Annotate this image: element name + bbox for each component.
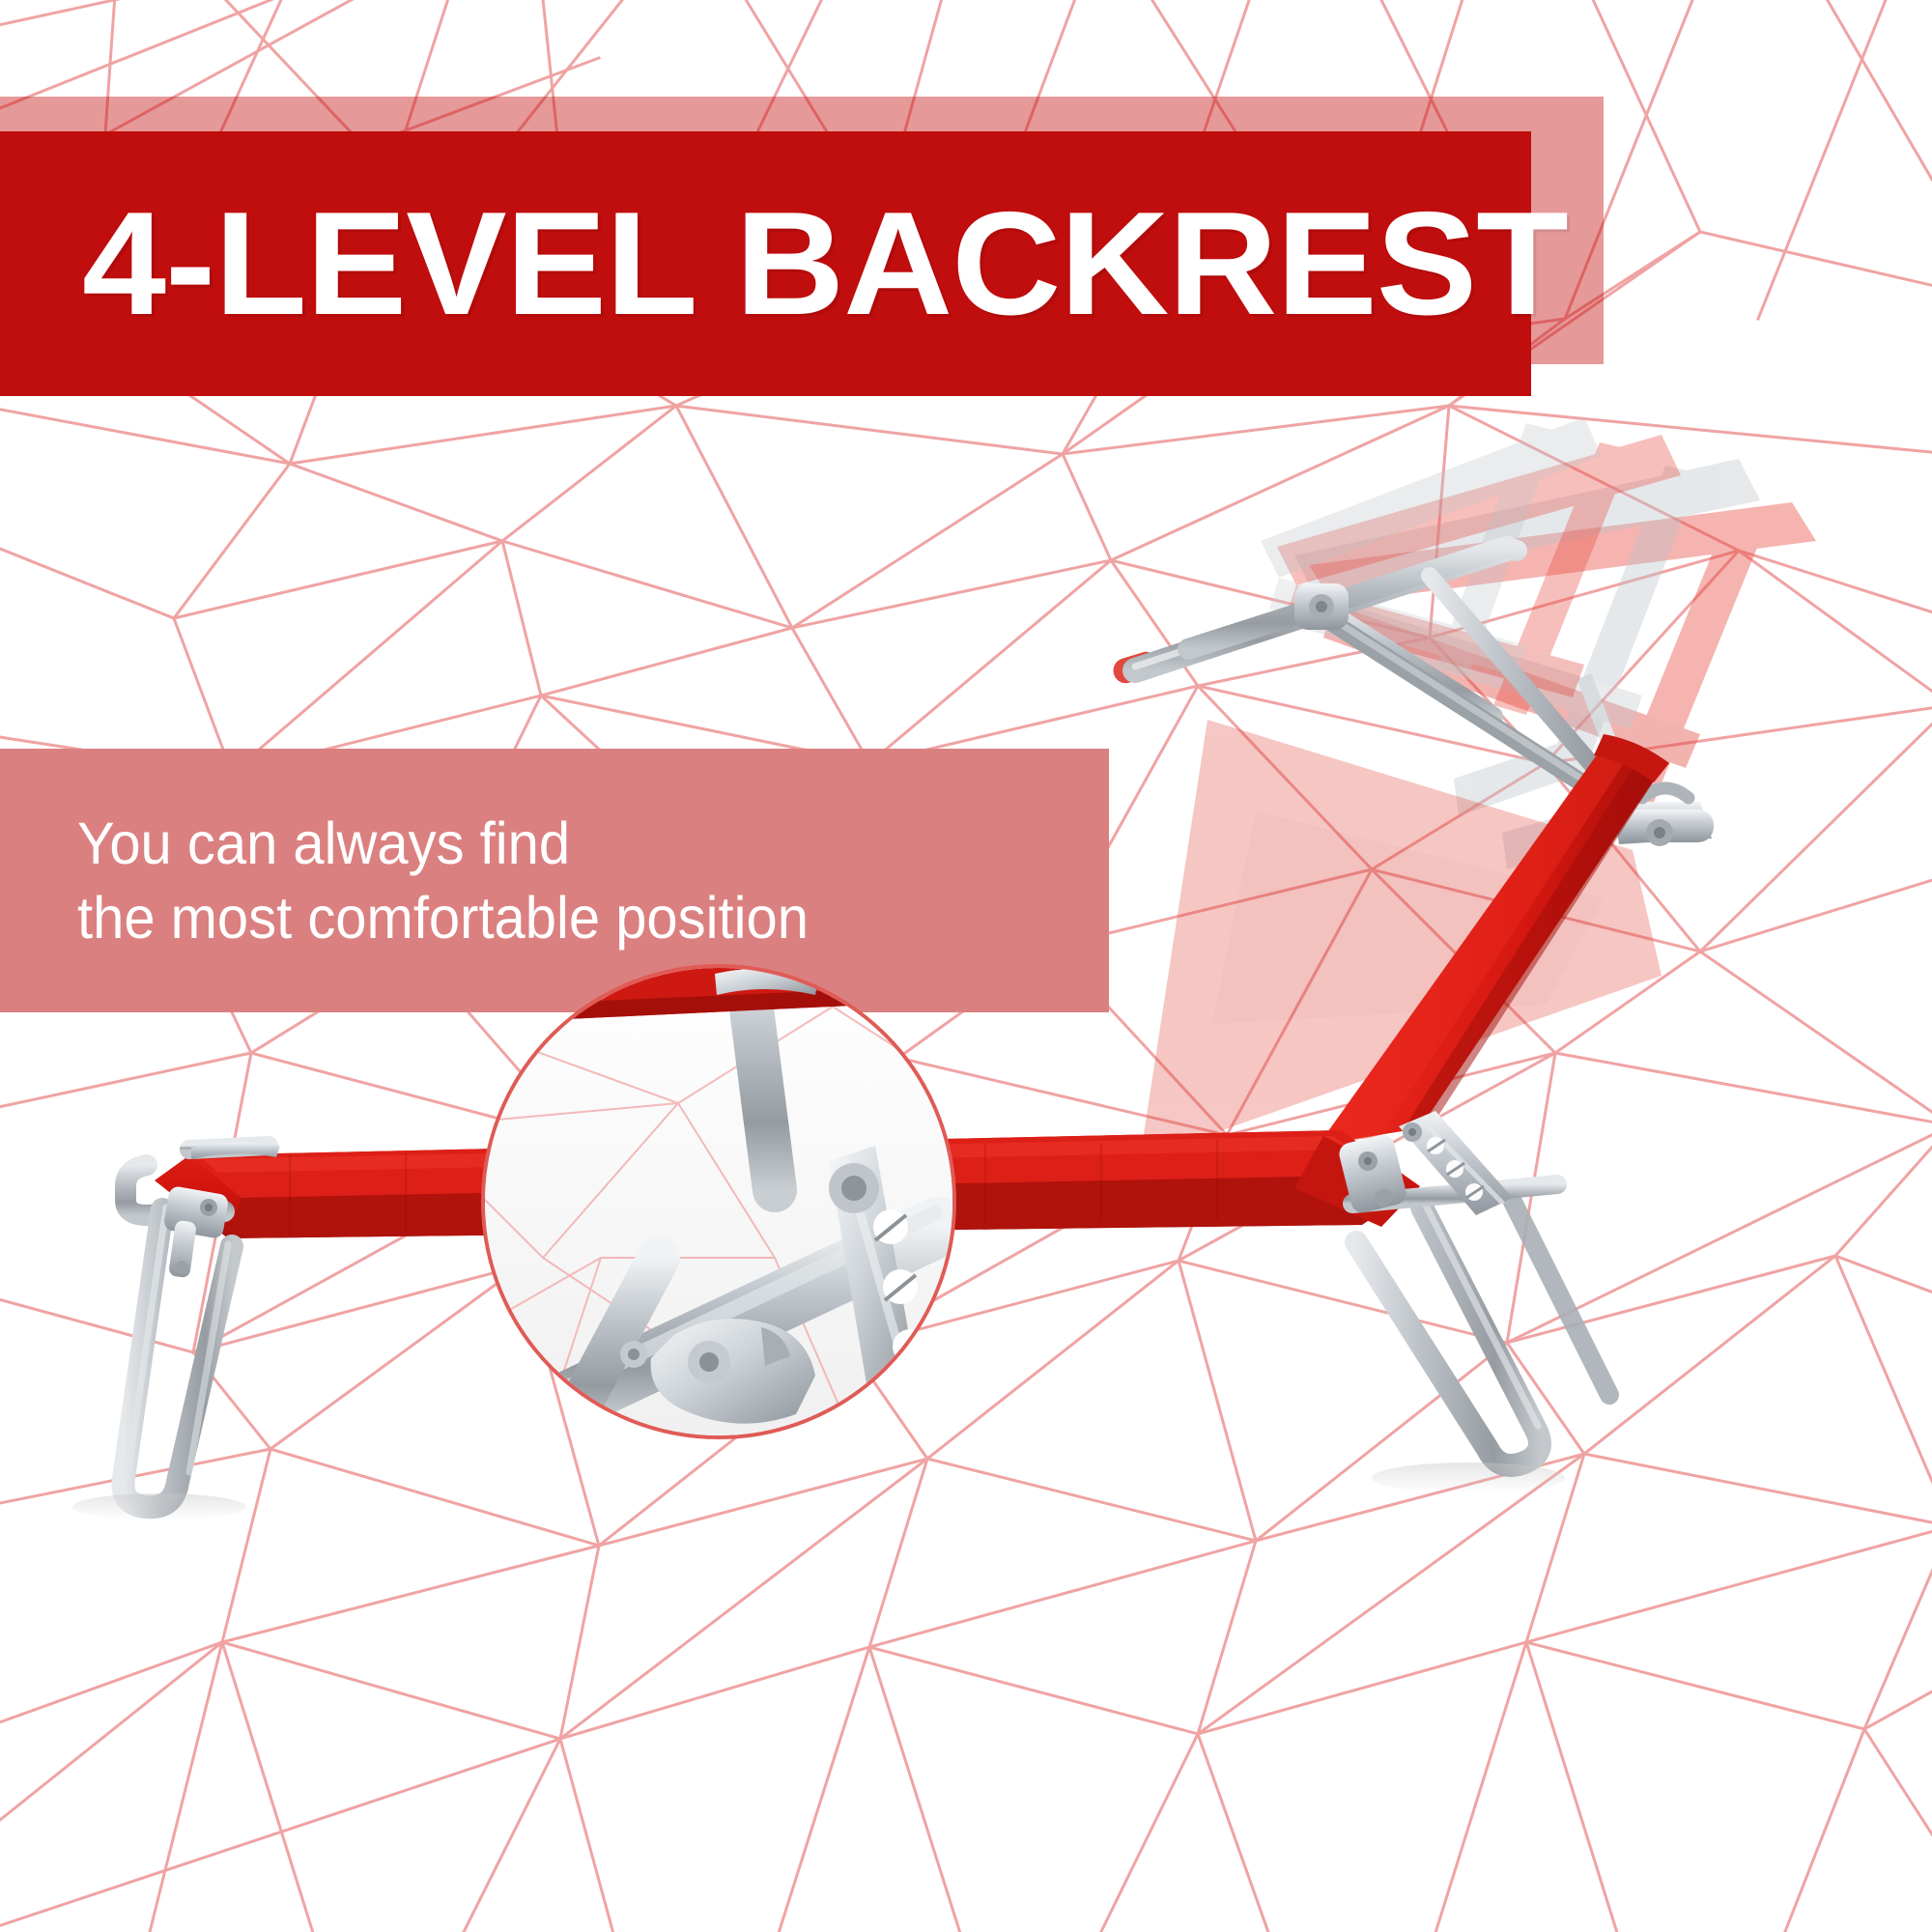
page-title: 4-LEVEL BACKREST: [82, 190, 1568, 337]
subtitle-line-2: the most comfortable position: [77, 881, 1058, 955]
hinge-icon: [829, 1163, 879, 1213]
detail-circle-callout: [481, 964, 956, 1439]
headline-banner: 4-LEVEL BACKREST: [0, 131, 1531, 396]
subtitle-line-1: You can always find: [77, 807, 1058, 881]
poster-canvas: 4-LEVEL BACKREST You can always find the…: [0, 0, 1932, 1932]
